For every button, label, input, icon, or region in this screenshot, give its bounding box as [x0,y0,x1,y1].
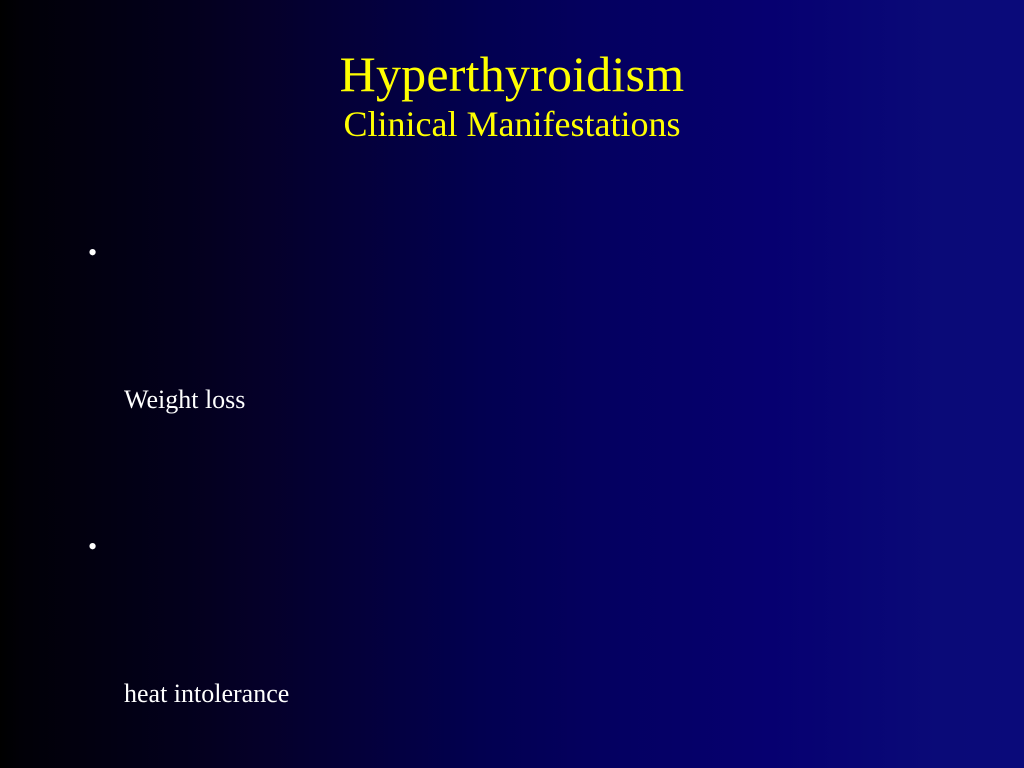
list-item: • Weight loss [86,228,948,522]
clinical-manifestations-list: • Weight loss • heat intolerance • muscl… [86,228,948,768]
presentation-slide: Hyperthyroidism Clinical Manifestations … [0,0,1024,768]
bullet-point-icon: • [88,522,102,571]
list-item: • heat intolerance [86,522,948,768]
list-item-label: heat intolerance [124,669,948,718]
bullet-point-icon: • [88,228,102,277]
page-title: Hyperthyroidism [0,46,1024,102]
page-subtitle: Clinical Manifestations [0,102,1024,146]
slide-title-block: Hyperthyroidism Clinical Manifestations [0,46,1024,146]
list-item-label: Weight loss [124,375,948,424]
